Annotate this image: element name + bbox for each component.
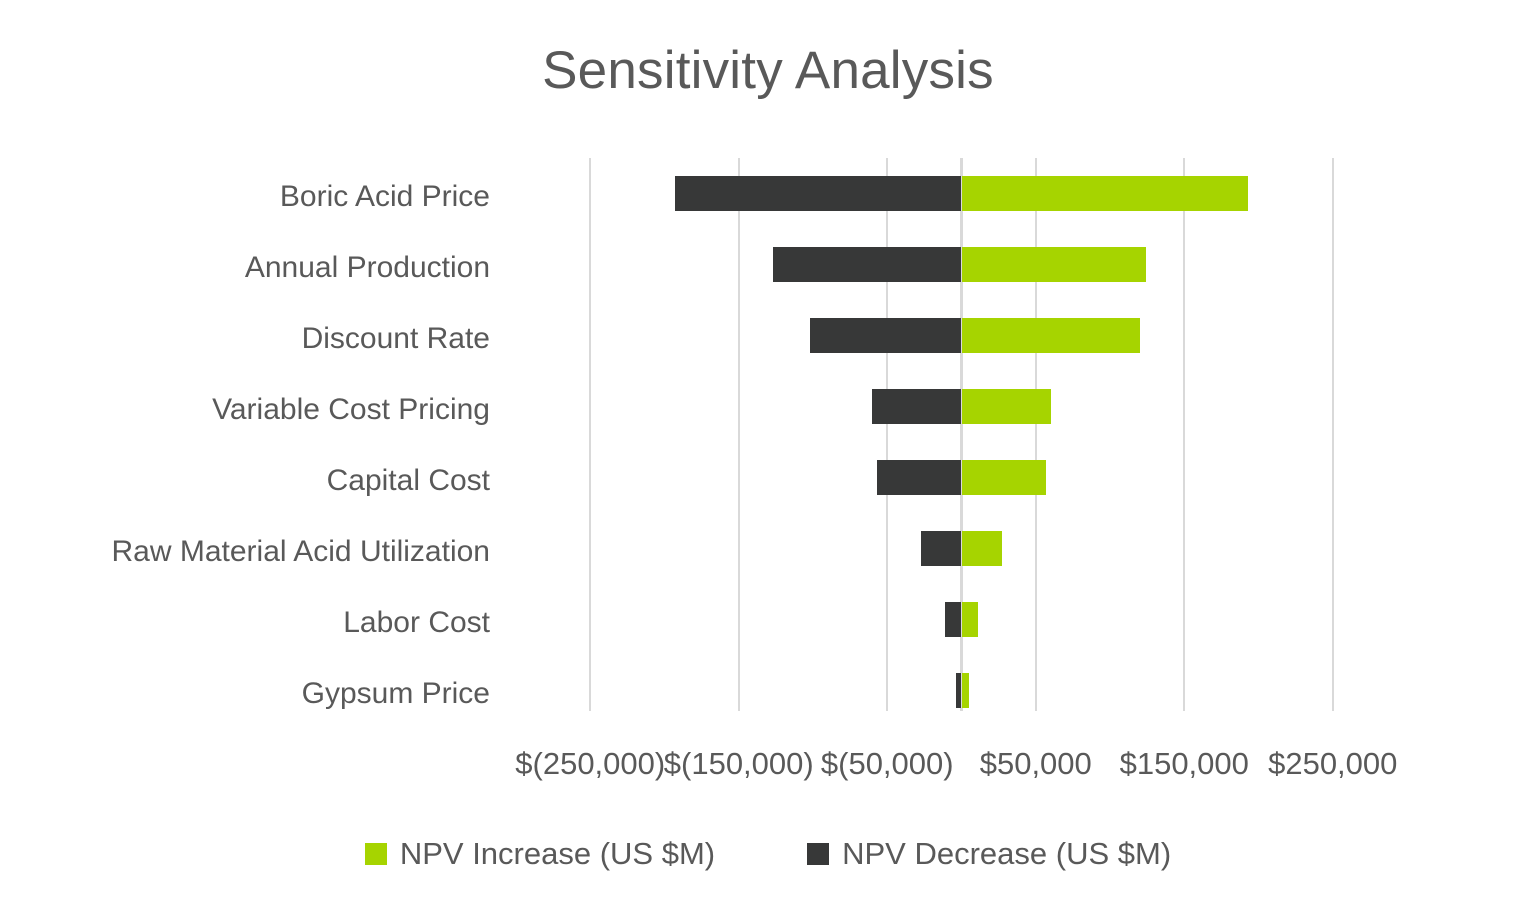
chart-legend: NPV Increase (US $M)NPV Decrease (US $M) — [0, 838, 1536, 869]
bar-npv-decrease[interactable] — [921, 531, 961, 566]
bar-npv-increase[interactable] — [962, 460, 1047, 495]
legend-swatch-icon — [807, 843, 829, 865]
x-axis-tick-label: $150,000 — [1120, 748, 1249, 779]
bar-npv-increase[interactable] — [962, 247, 1146, 282]
bar-row — [516, 513, 1407, 584]
bar-npv-increase[interactable] — [962, 389, 1051, 424]
bar-npv-decrease[interactable] — [773, 247, 962, 282]
legend-item[interactable]: NPV Decrease (US $M) — [807, 838, 1171, 869]
chart-title: Sensitivity Analysis — [0, 44, 1536, 97]
bar-npv-increase[interactable] — [962, 531, 1002, 566]
x-axis-tick-label: $50,000 — [980, 748, 1092, 779]
bar-npv-decrease[interactable] — [675, 176, 962, 211]
category-axis: Boric Acid PriceAnnual ProductionDiscoun… — [20, 158, 490, 711]
plot-area — [516, 158, 1407, 711]
category-label: Variable Cost Pricing — [20, 395, 490, 425]
category-label: Boric Acid Price — [20, 182, 490, 212]
category-label: Annual Production — [20, 253, 490, 283]
legend-swatch-icon — [365, 843, 387, 865]
bar-npv-decrease[interactable] — [877, 460, 962, 495]
legend-label: NPV Increase (US $M) — [400, 838, 715, 869]
bar-npv-decrease[interactable] — [810, 318, 961, 353]
bar-row — [516, 158, 1407, 229]
category-label: Capital Cost — [20, 466, 490, 496]
bar-npv-increase[interactable] — [962, 318, 1140, 353]
bar-row — [516, 442, 1407, 513]
bar-npv-decrease[interactable] — [872, 389, 961, 424]
sensitivity-analysis-chart: Sensitivity Analysis Boric Acid PriceAnn… — [0, 0, 1536, 922]
bar-npv-increase[interactable] — [962, 176, 1249, 211]
category-label: Raw Material Acid Utilization — [20, 537, 490, 567]
bar-npv-decrease[interactable] — [945, 602, 961, 637]
category-label: Labor Cost — [20, 608, 490, 638]
bar-npv-increase[interactable] — [962, 673, 969, 708]
legend-item[interactable]: NPV Increase (US $M) — [365, 838, 715, 869]
category-label: Gypsum Price — [20, 679, 490, 709]
value-axis: $(250,000)$(150,000)$(50,000)$50,000$150… — [0, 748, 1536, 792]
bar-row — [516, 655, 1407, 726]
bar-npv-increase[interactable] — [962, 602, 978, 637]
bar-row — [516, 300, 1407, 371]
legend-label: NPV Decrease (US $M) — [842, 838, 1171, 869]
x-axis-tick-label: $(250,000) — [515, 748, 665, 779]
x-axis-tick-label: $250,000 — [1268, 748, 1397, 779]
x-axis-tick-label: $(50,000) — [821, 748, 954, 779]
bar-row — [516, 584, 1407, 655]
bar-row — [516, 229, 1407, 300]
category-label: Discount Rate — [20, 324, 490, 354]
bar-row — [516, 371, 1407, 442]
x-axis-tick-label: $(150,000) — [664, 748, 814, 779]
